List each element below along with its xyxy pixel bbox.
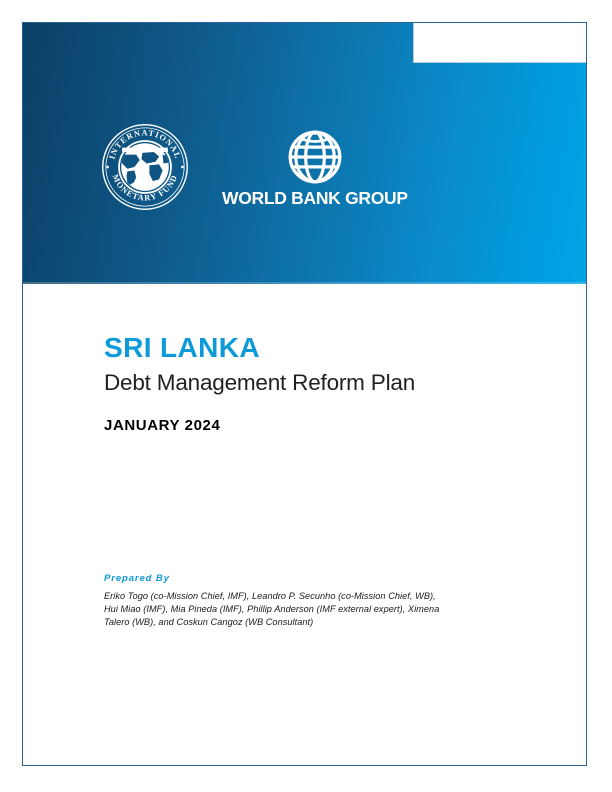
- world-bank-logo: WORLD BANK GROUP: [222, 126, 408, 208]
- document-cover-page: { "page": { "width": 612, "height": 792,…: [0, 0, 612, 792]
- prepared-by-block: Prepared By Eriko Togo (co-Mission Chief…: [104, 573, 524, 629]
- world-bank-globe-icon: [284, 126, 346, 188]
- publication-date: JANUARY 2024: [104, 418, 544, 435]
- page-subtitle: Debt Management Reform Plan: [104, 370, 544, 396]
- imf-seal-icon: INTERNATIONAL MONETARY FUND: [101, 123, 189, 211]
- credit-line: Eriko Togo (co-Mission Chief, IMF), Lean…: [104, 590, 524, 603]
- banner-corner-notch: [413, 23, 586, 63]
- page-frame: INTERNATIONAL MONETARY FUND: [22, 22, 587, 766]
- page-title-country: SRI LANKA: [104, 333, 544, 364]
- prepared-by-label: Prepared By: [104, 573, 524, 584]
- logo-row: INTERNATIONAL MONETARY FUND: [101, 123, 408, 211]
- cover-banner: INTERNATIONAL MONETARY FUND: [23, 23, 586, 284]
- title-block: SRI LANKA Debt Management Reform Plan JA…: [104, 333, 544, 434]
- credit-line: Hui Miao (IMF), Mia Pineda (IMF), Philli…: [104, 603, 524, 616]
- world-bank-wordmark: WORLD BANK GROUP: [222, 190, 408, 208]
- banner-bottom-edge: [23, 282, 586, 284]
- credit-line: Talero (WB), and Coskun Cangoz (WB Consu…: [104, 616, 524, 629]
